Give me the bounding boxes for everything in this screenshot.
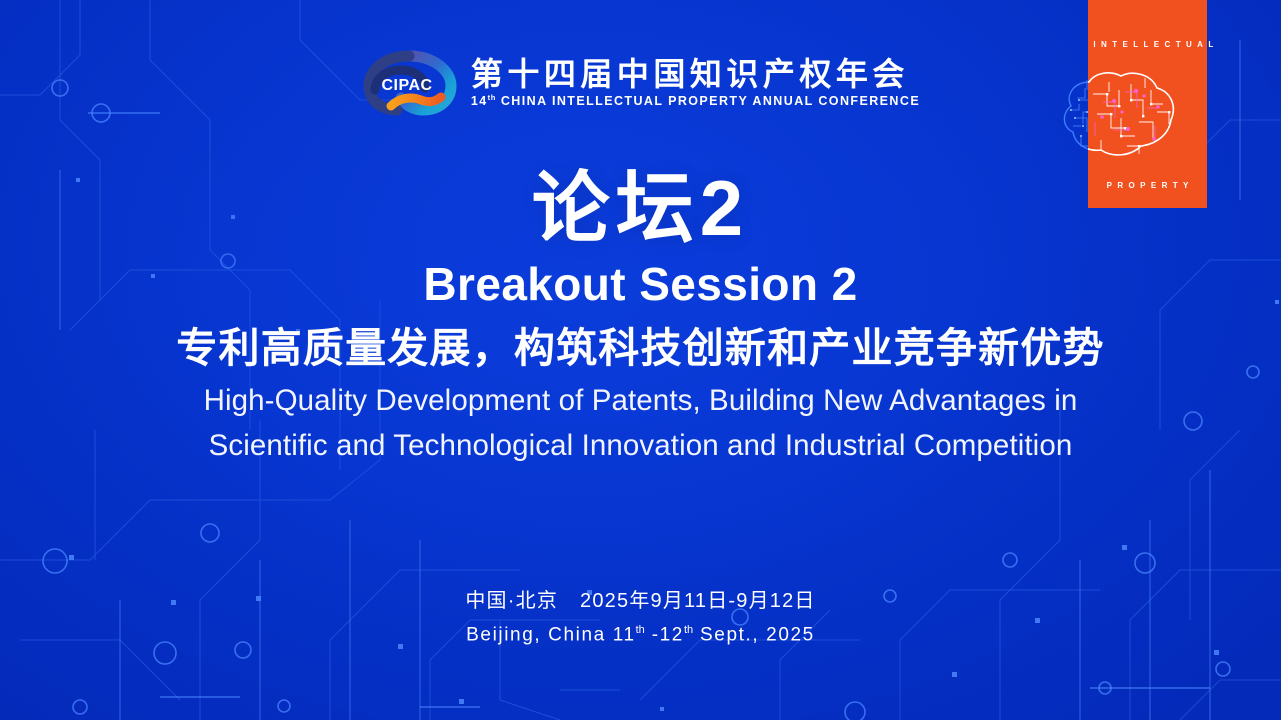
event-day-start-ordinal: th: [636, 624, 645, 636]
event-date-cn: 2025年9月11日-9月12日: [580, 590, 816, 612]
event-day-end: 12: [660, 624, 684, 645]
conference-title-en: 14th CHINA INTELLECTUAL PROPERTY ANNUAL …: [471, 94, 920, 109]
conference-slide: INTELLECTUAL PROPERTY: [0, 0, 1281, 720]
event-day-start: 11: [613, 624, 636, 645]
conference-title-block: 第十四届中国知识产权年会 14th CHINA INTELLECTUAL PRO…: [471, 57, 920, 109]
event-details-en: Beijing, China 11th -12th Sept., 2025: [0, 623, 1281, 648]
main-content: 论坛2 Breakout Session 2 专利高质量发展，构筑科技创新和产业…: [0, 168, 1281, 469]
svg-text:CIPAC: CIPAC: [381, 77, 432, 94]
session-theme-en-line1: High-Quality Development of Patents, Bui…: [0, 379, 1281, 424]
event-details-cn: 中国·北京2025年9月11日-9月12日: [0, 588, 1281, 614]
session-theme-en: High-Quality Development of Patents, Bui…: [0, 379, 1281, 469]
conference-logo-lockup: CIPAC 第十四届中国知识产权年会 14th CHINA INTELLECTU…: [0, 50, 1281, 116]
cipac-logo-icon: CIPAC: [361, 50, 457, 116]
conference-title-cn: 第十四届中国知识产权年会: [471, 57, 920, 92]
event-location-cn: 中国·北京: [465, 590, 558, 612]
session-theme-cn: 专利高质量发展，构筑科技创新和产业竞争新优势: [0, 326, 1281, 372]
event-details: 中国·北京2025年9月11日-9月12日 Beijing, China 11t…: [0, 588, 1281, 648]
forum-title-en: Breakout Session 2: [0, 260, 1281, 310]
conference-title-en-ordinal: th: [488, 93, 496, 102]
session-theme-en-line2: Scientific and Technological Innovation …: [0, 424, 1281, 469]
event-location-en: Beijing, China: [466, 624, 613, 645]
forum-title-cn: 论坛2: [0, 168, 1281, 250]
event-day-separator: -: [645, 624, 660, 645]
event-day-end-ordinal: th: [684, 624, 693, 636]
panel-word-intellectual: INTELLECTUAL: [1088, 40, 1207, 49]
conference-title-en-number: 14: [471, 94, 488, 108]
event-month-year-en: Sept., 2025: [693, 624, 815, 645]
conference-title-en-text: CHINA INTELLECTUAL PROPERTY ANNUAL CONFE…: [496, 94, 920, 108]
